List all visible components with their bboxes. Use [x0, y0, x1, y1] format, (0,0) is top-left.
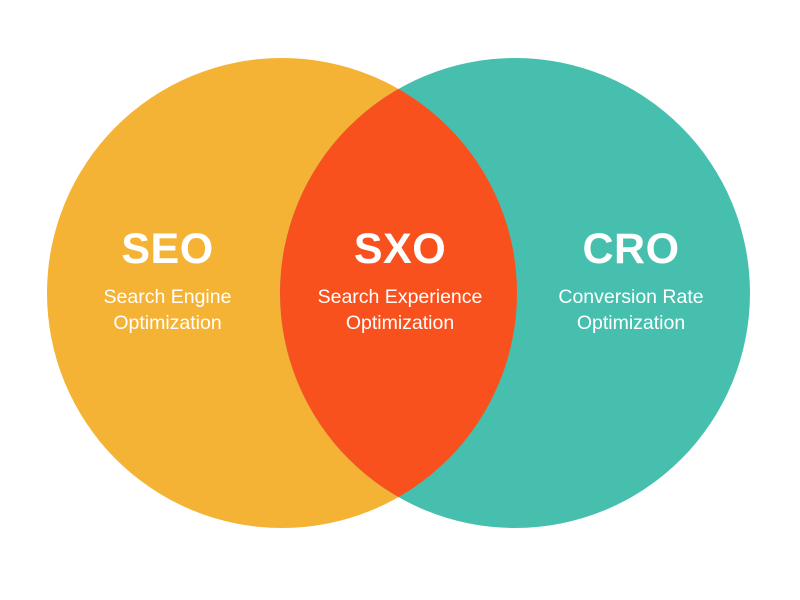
- seo-acronym: SEO: [47, 228, 289, 271]
- cro-acronym: CRO: [511, 228, 751, 271]
- seo-subtitle: Search Engine Optimization: [47, 284, 289, 336]
- sxo-acronym: SXO: [288, 228, 512, 271]
- venn-diagram-canvas: SEO Search Engine Optimization SXO Searc…: [0, 0, 800, 600]
- seo-label-group: SEO Search Engine Optimization: [47, 228, 289, 336]
- cro-label-group: CRO Conversion Rate Optimization: [511, 228, 751, 336]
- sxo-label-group: SXO Search Experience Optimization: [288, 228, 512, 336]
- sxo-subtitle: Search Experience Optimization: [288, 284, 512, 336]
- cro-subtitle: Conversion Rate Optimization: [511, 284, 751, 336]
